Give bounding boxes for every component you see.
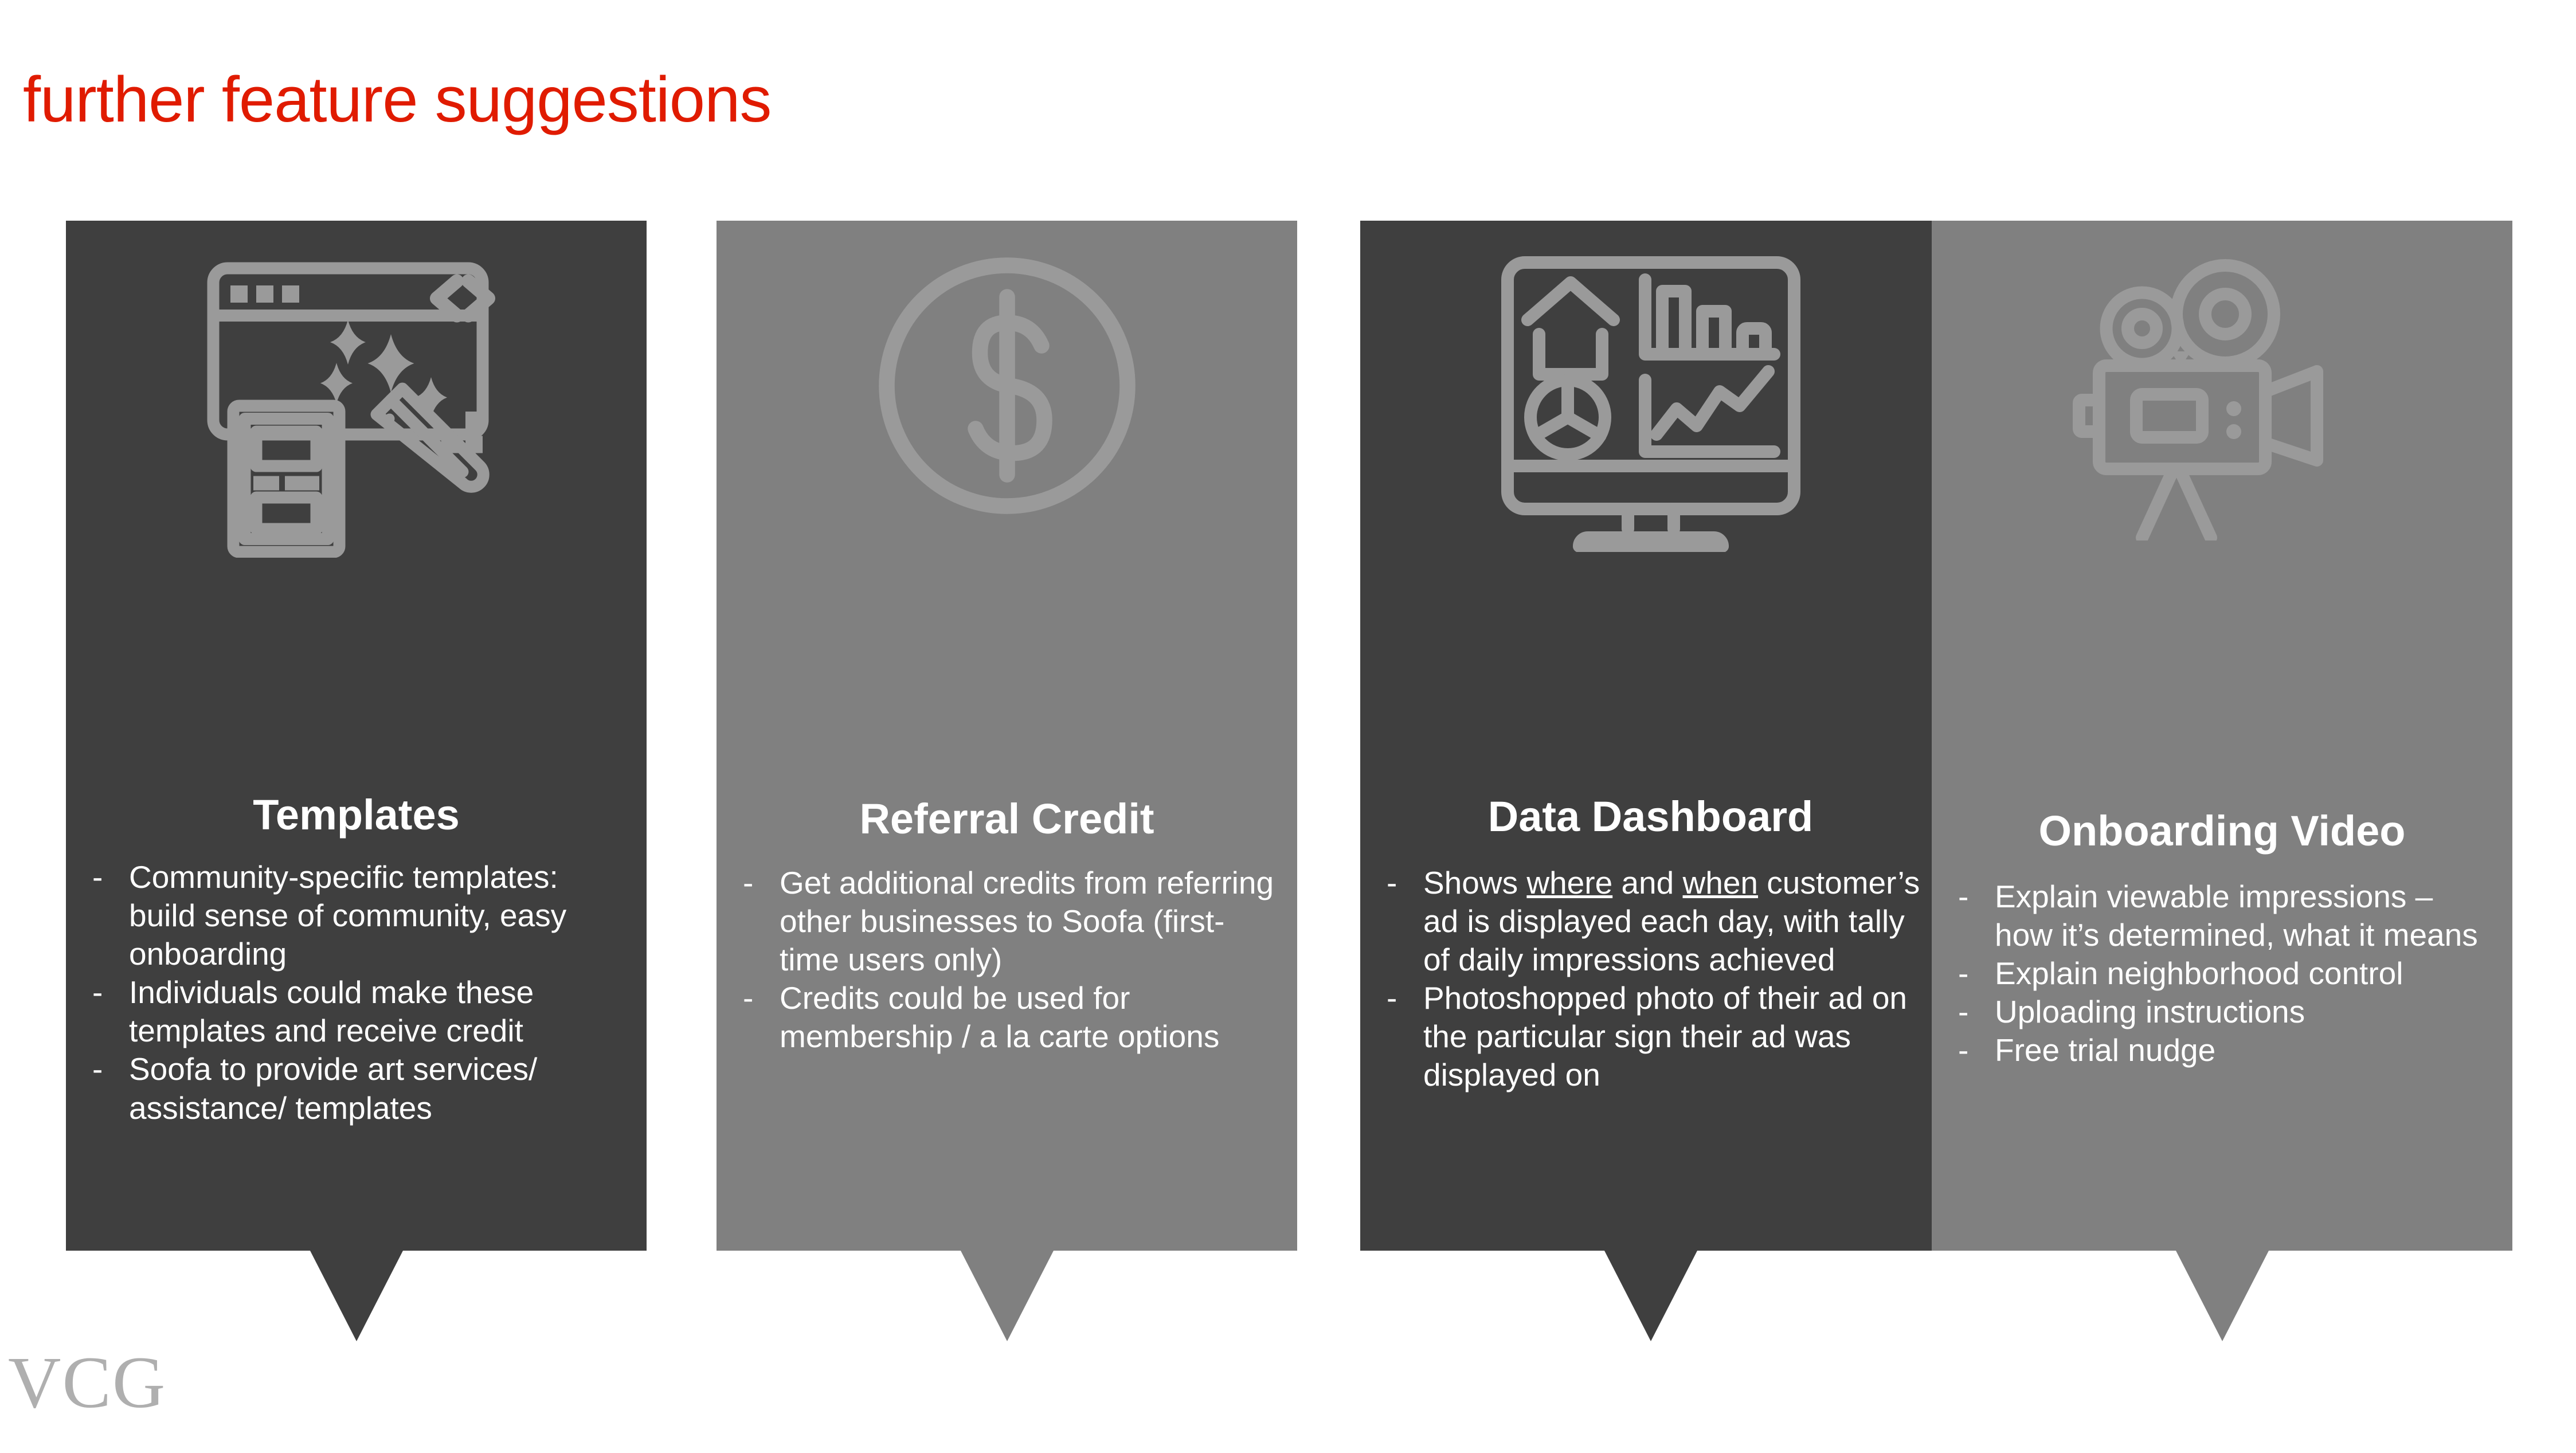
bullet-dash: - — [82, 1050, 129, 1088]
list-item: - Explain viewable impressions – how it’… — [1948, 878, 2496, 954]
list-item: - Uploading instructions — [1948, 993, 2496, 1031]
list-item: - Free trial nudge — [1948, 1031, 2496, 1070]
card-body: Templates - Community-specific templates… — [66, 221, 647, 1251]
card-title: Onboarding Video — [1932, 810, 2512, 852]
page-title: further feature suggestions — [23, 68, 771, 132]
bullet-dash: - — [1948, 878, 1995, 916]
bullet-dash: - — [82, 973, 129, 1012]
card-pointer — [1604, 1251, 1697, 1341]
feature-card-templates: Templates - Community-specific templates… — [66, 221, 647, 1251]
bullet-text: Explain viewable impressions – how it’s … — [1995, 878, 2496, 954]
card-title: Templates — [66, 794, 647, 836]
bullet-dash: - — [1376, 864, 1423, 902]
bullet-dash: - — [1948, 1031, 1995, 1070]
bullet-dash: - — [1376, 979, 1423, 1017]
bullet-text: Community-specific templates: build sens… — [129, 858, 631, 973]
bullet-text: Explain neighborhood control — [1995, 954, 2496, 993]
bullet-dash: - — [82, 858, 129, 896]
bullet-text: Get additional credits from referring ot… — [780, 864, 1281, 979]
movie-camera-icon — [1932, 254, 2512, 541]
card-bullet-list: - Community-specific templates: build se… — [66, 858, 647, 1127]
card-bullet-list: - Get additional credits from referring … — [717, 864, 1297, 1056]
feature-card-referral-credit: Referral Credit - Get additional credits… — [717, 221, 1297, 1251]
bullet-text: Soofa to provide art services/ assistanc… — [129, 1050, 631, 1127]
vcg-logo: VCG — [8, 1346, 166, 1419]
list-item: - Get additional credits from referring … — [733, 864, 1281, 979]
card-pointer — [310, 1251, 403, 1341]
list-item: - Individuals could make these templates… — [82, 973, 631, 1050]
bullet-text: Shows where and when customer’s ad is di… — [1423, 864, 1925, 979]
list-item: - Photoshopped photo of their ad on the … — [1376, 979, 1925, 1094]
card-bullet-list: - Explain viewable impressions – how it’… — [1932, 878, 2512, 1070]
list-item: - Community-specific templates: build se… — [82, 858, 631, 973]
bullet-text: Uploading instructions — [1995, 993, 2496, 1031]
bullet-dash: - — [733, 864, 780, 902]
card-bullet-list: - Shows where and when customer’s ad is … — [1360, 864, 1941, 1095]
list-item: - Credits could be used for membership /… — [733, 979, 1281, 1056]
bullet-text: Credits could be used for membership / a… — [780, 979, 1281, 1056]
list-item: - Shows where and when customer’s ad is … — [1376, 864, 1925, 979]
list-item: - Explain neighborhood control — [1948, 954, 2496, 993]
bullet-dash: - — [1948, 954, 1995, 993]
dollar-coin-icon — [717, 242, 1297, 529]
card-title: Referral Credit — [717, 798, 1297, 840]
feature-card-data-dashboard: Data Dashboard - Shows where and when cu… — [1360, 221, 1941, 1251]
card-body: Onboarding Video - Explain viewable impr… — [1932, 221, 2512, 1251]
browser-template-wand-icon — [66, 248, 647, 558]
bullet-text: Photoshopped photo of their ad on the pa… — [1423, 979, 1925, 1094]
card-body: Referral Credit - Get additional credits… — [717, 221, 1297, 1251]
dashboard-monitor-icon — [1360, 242, 1941, 552]
list-item: - Soofa to provide art services/ assista… — [82, 1050, 631, 1127]
bullet-dash: - — [733, 979, 780, 1017]
card-body: Data Dashboard - Shows where and when cu… — [1360, 221, 1941, 1251]
card-pointer — [961, 1251, 1054, 1341]
card-title: Data Dashboard — [1360, 796, 1941, 838]
card-pointer — [2176, 1251, 2269, 1341]
bullet-dash: - — [1948, 993, 1995, 1031]
feature-card-onboarding-video: Onboarding Video - Explain viewable impr… — [1932, 221, 2512, 1251]
bullet-text: Individuals could make these templates a… — [129, 973, 631, 1050]
bullet-text: Free trial nudge — [1995, 1031, 2496, 1070]
